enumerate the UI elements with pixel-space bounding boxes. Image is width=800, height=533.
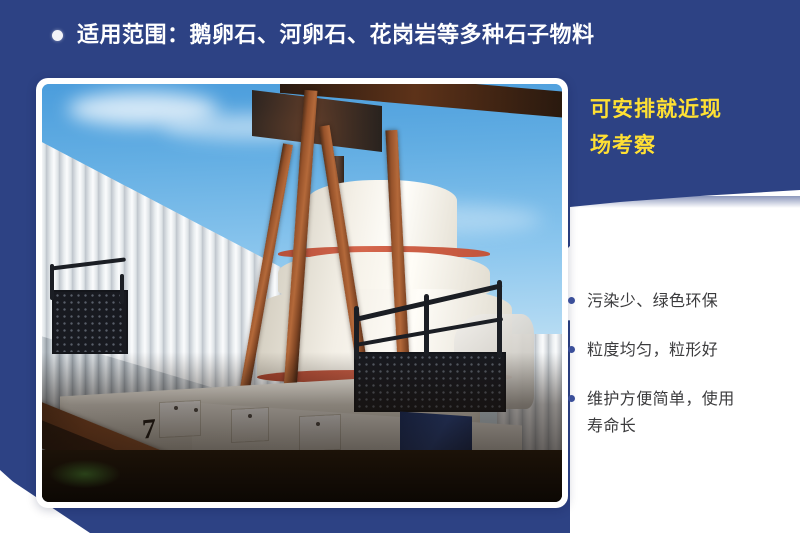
railing-post: [497, 280, 502, 358]
feature-text: 粒度均匀，粒形好: [587, 337, 718, 364]
railing-post: [424, 294, 429, 356]
bullet-dot-icon: [568, 395, 575, 402]
site-photo: 7: [42, 84, 562, 502]
left-railing-post: [50, 264, 54, 300]
list-item: 污染少、绿色环保: [568, 288, 800, 315]
feature-text: 维护方便简单，使用 寿命长: [587, 386, 735, 440]
left-railing-post: [120, 274, 124, 304]
grass-patch: [50, 460, 120, 488]
list-item: 维护方便简单，使用 寿命长: [568, 386, 800, 440]
highlight-line-1: 可安排就近现: [590, 92, 790, 128]
ground: [42, 450, 562, 502]
highlight-line-2: 场考察: [590, 128, 790, 164]
left-platform: [52, 290, 128, 354]
page-root: 适用范围：鹅卵石、河卵石、花岗岩等多种石子物料: [0, 0, 800, 533]
bullet-dot-icon: [568, 346, 575, 353]
page-title: 适用范围：鹅卵石、河卵石、花岗岩等多种石子物料: [77, 24, 595, 46]
feature-list: 污染少、绿色环保 粒度均匀，粒形好 维护方便简单，使用 寿命长: [568, 288, 800, 462]
feature-text: 污染少、绿色环保: [587, 288, 718, 315]
highlight-heading: 可安排就近现 场考察: [590, 92, 790, 164]
dot-icon: [52, 30, 63, 41]
list-item: 粒度均匀，粒形好: [568, 337, 800, 364]
header: 适用范围：鹅卵石、河卵石、花岗岩等多种石子物料: [52, 18, 595, 52]
bullet-dot-icon: [568, 297, 575, 304]
photo-card: 7: [36, 78, 568, 508]
